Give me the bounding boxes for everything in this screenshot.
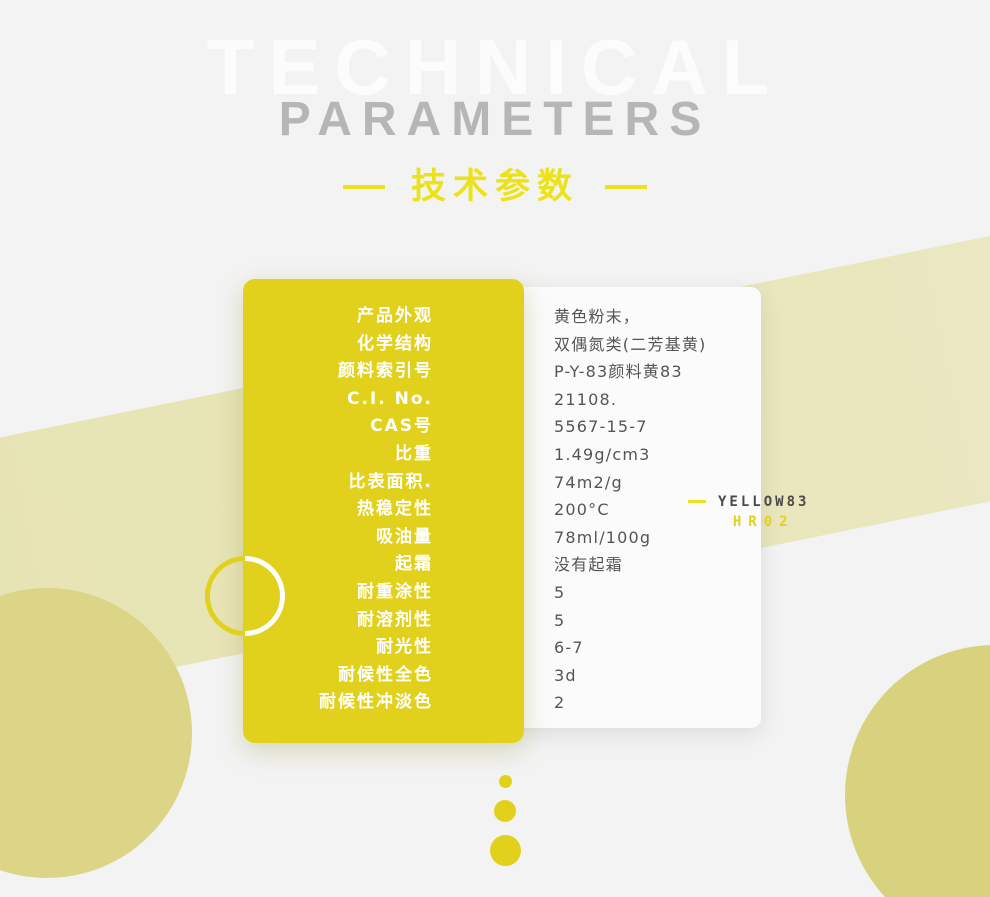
parameter-label: 吸油量: [243, 524, 433, 552]
parameter-label: 比重: [243, 441, 433, 469]
parameter-value: P-Y-83颜料黄83: [554, 358, 769, 386]
parameter-label-column: 产品外观 化学结构 颜料索引号 C.I. No. CAS号 比重 比表面积. 热…: [243, 303, 433, 717]
parameter-value: 1.49g/cm3: [554, 441, 769, 469]
dot-decoration-group: [475, 775, 535, 866]
product-tag: YELLOW83 HR02: [688, 491, 809, 531]
product-name: YELLOW83: [718, 494, 809, 510]
parameter-label: 起霜: [243, 551, 433, 579]
dot-large-icon: [490, 835, 521, 866]
dash-left-icon: [343, 185, 385, 189]
parameter-value: 没有起霜: [554, 551, 769, 579]
heading-chinese-row: 技术参数: [0, 166, 990, 208]
parameter-label: 比表面积.: [243, 469, 433, 497]
parameter-label: 产品外观: [243, 303, 433, 331]
parameter-label: 耐溶剂性: [243, 607, 433, 635]
heading-parameters: PARAMETERS: [0, 96, 990, 144]
parameter-value: 21108.: [554, 386, 769, 414]
olive-circle-left: [0, 588, 192, 878]
parameter-value: 双偶氮类(二芳基黄): [554, 331, 769, 359]
parameter-label: 化学结构: [243, 331, 433, 359]
parameter-value: 黄色粉末，: [554, 303, 769, 331]
parameter-label: CAS号: [243, 413, 433, 441]
parameter-label: 颜料索引号: [243, 358, 433, 386]
parameter-value: 5567-15-7: [554, 413, 769, 441]
tag-dash-icon: [688, 500, 706, 503]
parameter-label: C.I. No.: [243, 386, 433, 414]
heading-chinese: 技术参数: [411, 166, 579, 208]
dot-small-icon: [499, 775, 512, 788]
parameter-value: 5: [554, 579, 769, 607]
olive-circle-right: [845, 645, 990, 897]
tag-text-group: YELLOW83 HR02: [718, 491, 809, 531]
parameter-label: 热稳定性: [243, 496, 433, 524]
parameter-value: 6-7: [554, 634, 769, 662]
parameter-label: 耐重涂性: [243, 579, 433, 607]
technical-parameters-infographic: TECHNICAL PARAMETERS 技术参数 产品外观 化学结构 颜料索引…: [0, 0, 990, 897]
parameter-label: 耐候性全色: [243, 662, 433, 690]
product-code: HR02: [718, 513, 809, 532]
dash-right-icon: [605, 185, 647, 189]
parameter-label: 耐光性: [243, 634, 433, 662]
parameter-value: 3d: [554, 662, 769, 690]
dot-medium-icon: [494, 800, 516, 822]
parameter-value: 5: [554, 607, 769, 635]
parameter-label: 耐候性冲淡色: [243, 689, 433, 717]
parameter-value: 2: [554, 689, 769, 717]
